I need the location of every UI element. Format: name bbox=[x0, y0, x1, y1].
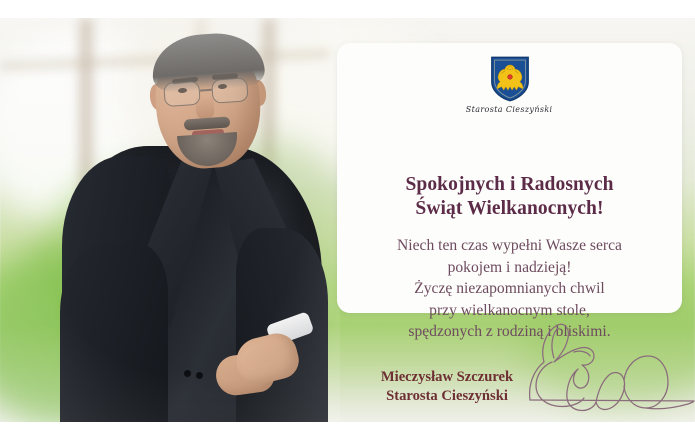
bottom-white-band bbox=[0, 422, 695, 442]
headline-line-2: Świąt Wielkanocnych! bbox=[337, 197, 682, 221]
glasses-lens bbox=[211, 77, 249, 103]
easter-greeting-card-image: Starosta Cieszyński Spokojnych i Radosny… bbox=[0, 0, 695, 442]
body-line-1: Niech ten czas wypełni Wasze serca bbox=[337, 235, 682, 257]
body-line-2: pokojem i nadzieją! bbox=[337, 257, 682, 279]
bunny-line-art bbox=[528, 322, 695, 422]
coat-of-arms-icon bbox=[489, 55, 531, 103]
signature-title: Starosta Cieszyński bbox=[337, 387, 557, 406]
suit-arm-left bbox=[60, 243, 168, 422]
crest-caption: Starosta Cieszyński bbox=[466, 105, 553, 115]
body-line-4: przy wielkanocnym stole, bbox=[337, 300, 682, 322]
headline-line-1: Spokojnych i Radosnych bbox=[337, 173, 682, 197]
signature-block: Mieczysław Szczurek Starosta Cieszyński bbox=[337, 368, 557, 406]
greeting-headline: Spokojnych i Radosnych Świąt Wielkanocny… bbox=[337, 173, 682, 221]
suit-button bbox=[184, 370, 191, 377]
crest-block: Starosta Cieszyński bbox=[337, 55, 682, 115]
portrait-photo bbox=[0, 18, 340, 422]
suit-button bbox=[196, 372, 203, 379]
top-white-band bbox=[0, 0, 695, 18]
body-line-3: Życzę niezapomnianych chwil bbox=[337, 278, 682, 300]
glasses-bridge bbox=[200, 89, 212, 91]
signature-name: Mieczysław Szczurek bbox=[337, 368, 557, 387]
greeting-card-panel: Starosta Cieszyński Spokojnych i Radosny… bbox=[337, 43, 682, 313]
bunny-and-eggs-icon bbox=[528, 322, 695, 422]
